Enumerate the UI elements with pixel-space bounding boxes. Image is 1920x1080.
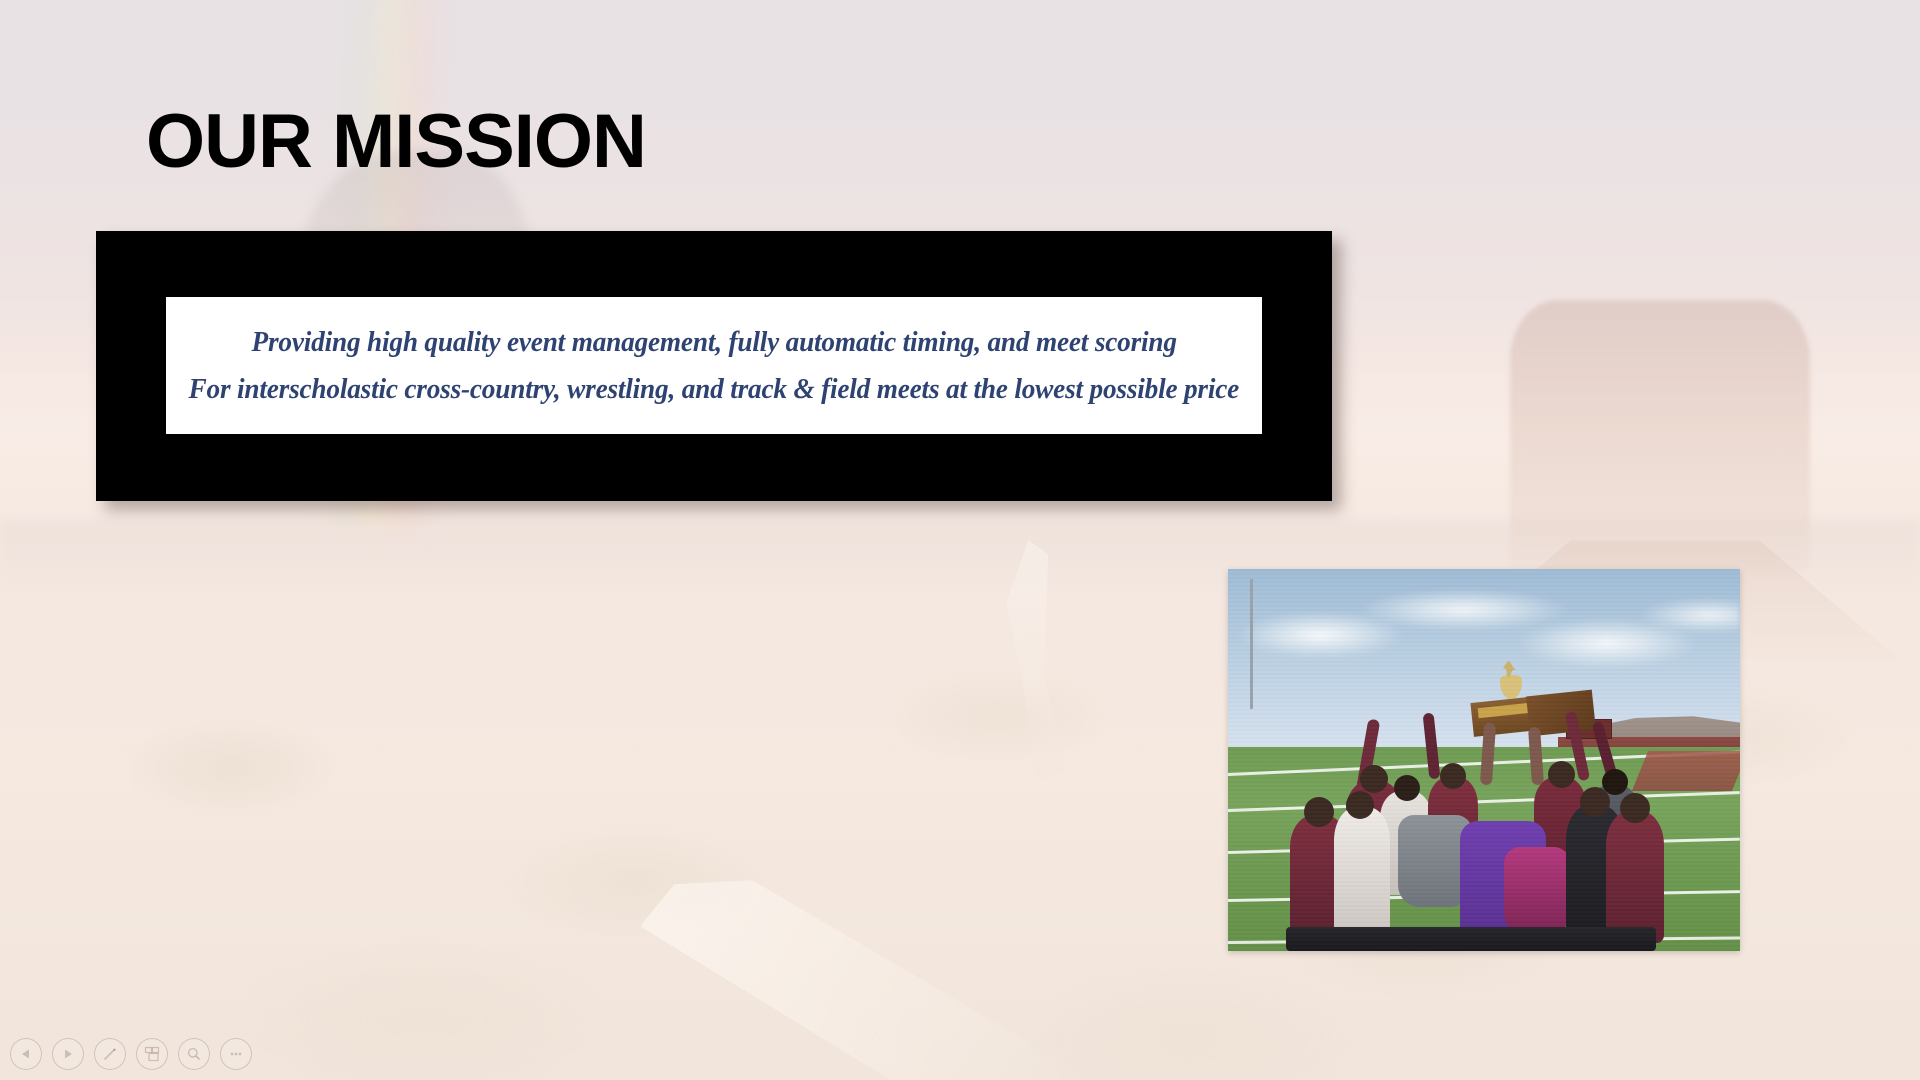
mission-panel: Providing high quality event management,… [96,231,1332,501]
ellipsis-icon [228,1046,244,1062]
more-options-button[interactable] [220,1038,252,1070]
trophy-cup [1500,675,1522,699]
pen-icon [102,1046,118,1062]
slide-grid-button[interactable] [136,1038,168,1070]
presentation-slide: OUR MISSION Providing high quality event… [0,0,1920,1080]
photo-team-huddle [1276,665,1676,951]
previous-slide-button[interactable] [10,1038,42,1070]
pen-tool-button[interactable] [94,1038,126,1070]
magnifier-icon [186,1046,202,1062]
next-slide-button[interactable] [52,1038,84,1070]
page-title: OUR MISSION [146,104,646,180]
triangle-left-icon [20,1048,32,1060]
presenter-controls [10,1038,252,1070]
pink-backpack [1504,847,1570,935]
photo-light-pole [1250,579,1253,709]
team-celebration-photo [1228,569,1740,951]
mission-line-1: Providing high quality event management,… [251,326,1176,359]
mission-line-2: For interscholastic cross-country, wrest… [189,373,1240,406]
mission-statement-card: Providing high quality event management,… [166,297,1262,434]
grid-icon [144,1046,160,1062]
triangle-right-icon [62,1048,74,1060]
zoom-button[interactable] [178,1038,210,1070]
